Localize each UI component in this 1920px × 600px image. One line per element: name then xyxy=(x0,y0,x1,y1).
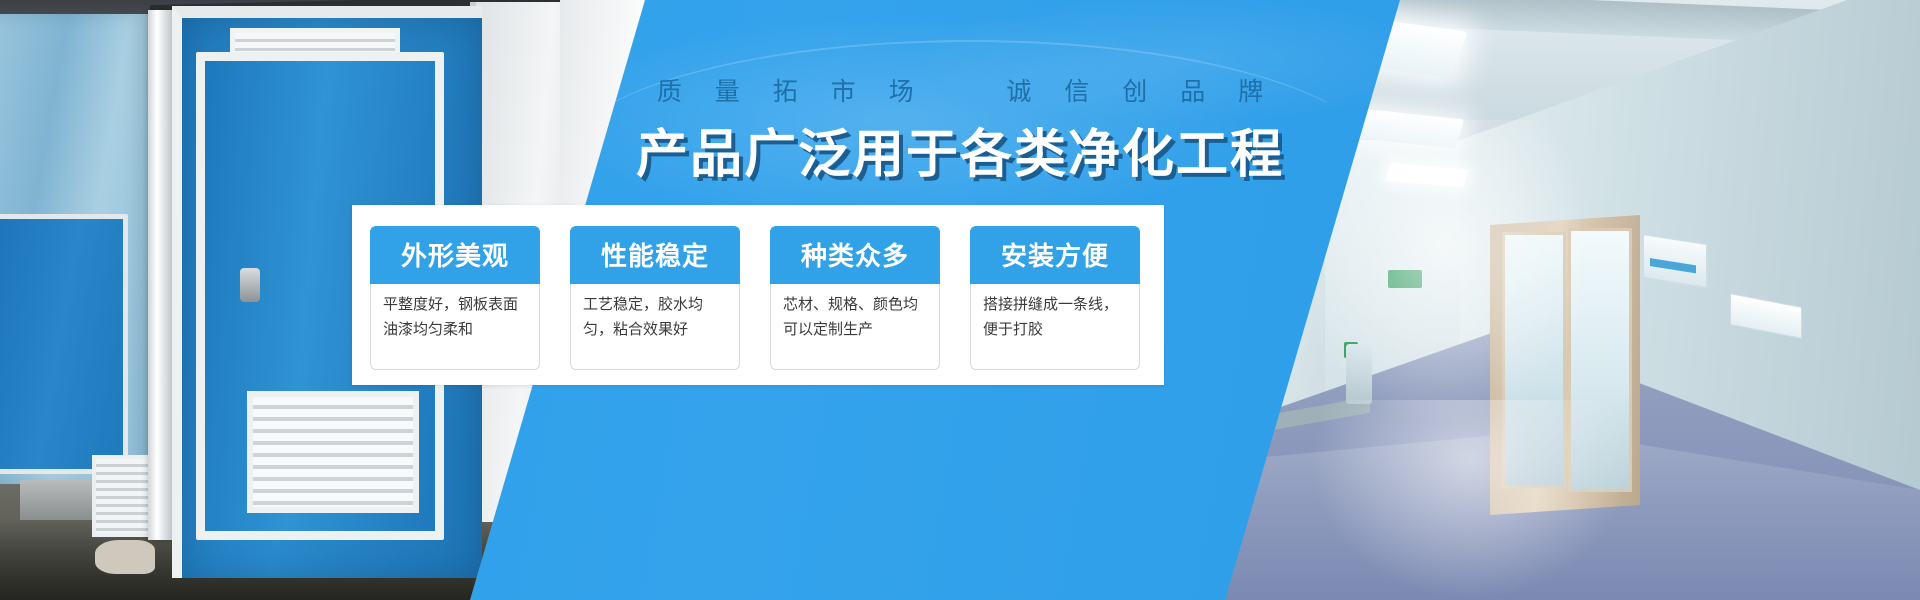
photo-wall-sign-bar xyxy=(1650,258,1696,273)
feature-card-title: 安装方便 xyxy=(970,226,1140,284)
photo-floor-glow xyxy=(1310,400,1630,600)
photo-ground-debris xyxy=(95,540,155,574)
feature-card-body: 工艺稳定，胶水均匀，粘合效果好 xyxy=(570,284,740,370)
photo-far-cabin-door xyxy=(0,214,128,474)
feature-card-1[interactable]: 外形美观 平整度好，钢板表面油漆均匀柔和 xyxy=(370,226,540,370)
feature-card-body: 平整度好，钢板表面油漆均匀柔和 xyxy=(370,284,540,370)
feature-card-title: 性能稳定 xyxy=(570,226,740,284)
feature-card-body: 搭接拼缝成一条线，便于打胶 xyxy=(970,284,1140,370)
feature-card-4[interactable]: 安装方便 搭接拼缝成一条线，便于打胶 xyxy=(970,226,1140,370)
feature-card-title: 外形美观 xyxy=(370,226,540,284)
feature-card-3[interactable]: 种类众多 芯材、规格、颜色均可以定制生产 xyxy=(770,226,940,370)
banner-tagline: 质 量 拓 市 场 诚 信 创 品 牌 xyxy=(0,72,1920,108)
feature-card-2[interactable]: 性能稳定 工艺稳定，胶水均匀，粘合效果好 xyxy=(570,226,740,370)
photo-main-cabin-bottom-vent xyxy=(247,391,419,513)
banner-headline: 产品广泛用于各类净化工程 xyxy=(0,112,1920,187)
feature-card-body: 芯材、规格、颜色均可以定制生产 xyxy=(770,284,940,370)
promo-banner: 质 量 拓 市 场 诚 信 创 品 牌 产品广泛用于各类净化工程 外形美观 平整… xyxy=(0,0,1920,600)
photo-door-handle xyxy=(240,268,260,302)
feature-card-list: 外形美观 平整度好，钢板表面油漆均匀柔和 性能稳定 工艺稳定，胶水均匀，粘合效果… xyxy=(370,226,1150,370)
feature-card-title: 种类众多 xyxy=(770,226,940,284)
